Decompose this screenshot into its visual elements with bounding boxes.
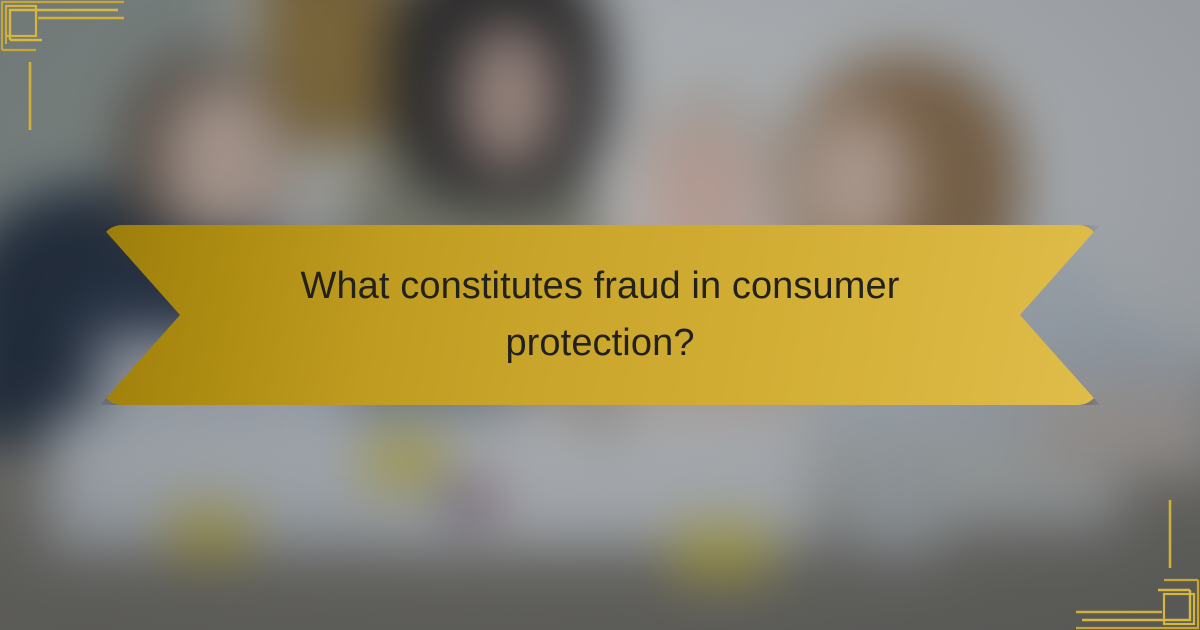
question-line-1: What constitutes fraud in consumer — [300, 258, 899, 315]
question-line-2: protection? — [505, 315, 694, 372]
ribbon-text-block: What constitutes fraud in consumer prote… — [100, 225, 1100, 405]
question-ribbon: What constitutes fraud in consumer prote… — [100, 225, 1100, 405]
share-card: What constitutes fraud in consumer prote… — [0, 0, 1200, 630]
